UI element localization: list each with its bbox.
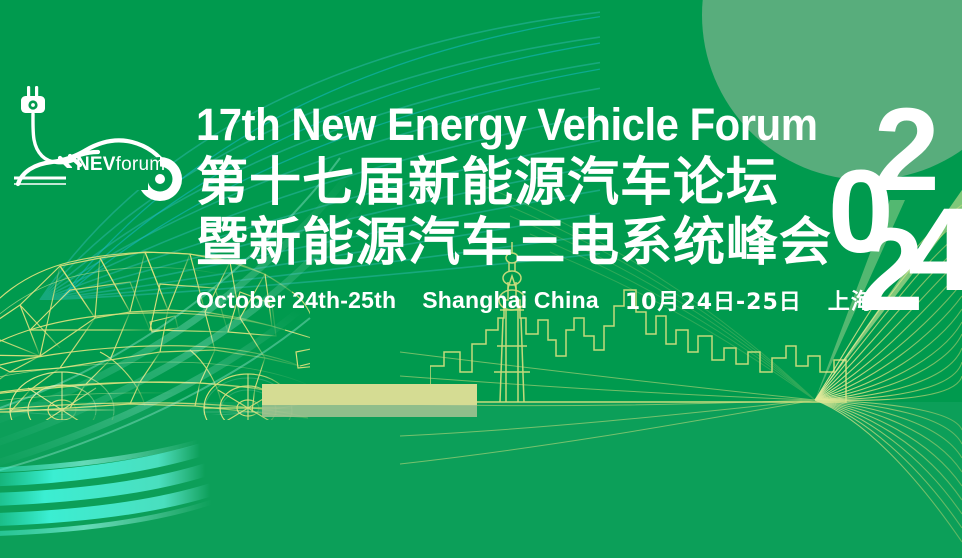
logo-brand-bold: NEV [76, 154, 116, 175]
meta-date-english: October 24th-25th [196, 287, 396, 314]
ground-platform-bar-reflection [262, 405, 477, 417]
year-2024-graphic: 2 0 2 4 [836, 103, 956, 308]
meta-date-chinese: 10月24日-25日 [625, 284, 802, 316]
year-digit-4: 4 [908, 191, 962, 309]
logo-artwork [8, 72, 193, 212]
logo-brand-light: forum [116, 154, 166, 175]
headline-block: 17th New Energy Vehicle Forum 第十七届新能源汽车论… [196, 100, 846, 316]
title-english: 17th New Energy Vehicle Forum [196, 100, 801, 150]
meta-location-english: Shanghai China [422, 287, 599, 314]
logo-wordmark: NEVforum [76, 154, 165, 176]
ground-platform-bar [262, 384, 477, 405]
title-chinese-line-2: 暨新能源汽车三电系统峰会 [196, 214, 846, 272]
nevforum-logo[interactable]: NEVforum [8, 72, 193, 212]
poster-canvas: NEVforum 17th New Energy Vehicle Forum 第… [0, 0, 962, 558]
event-meta-line: October 24th-25th Shanghai China 10月24日-… [196, 284, 846, 316]
title-chinese-line-1: 第十七届新能源汽车论坛 [196, 154, 846, 212]
